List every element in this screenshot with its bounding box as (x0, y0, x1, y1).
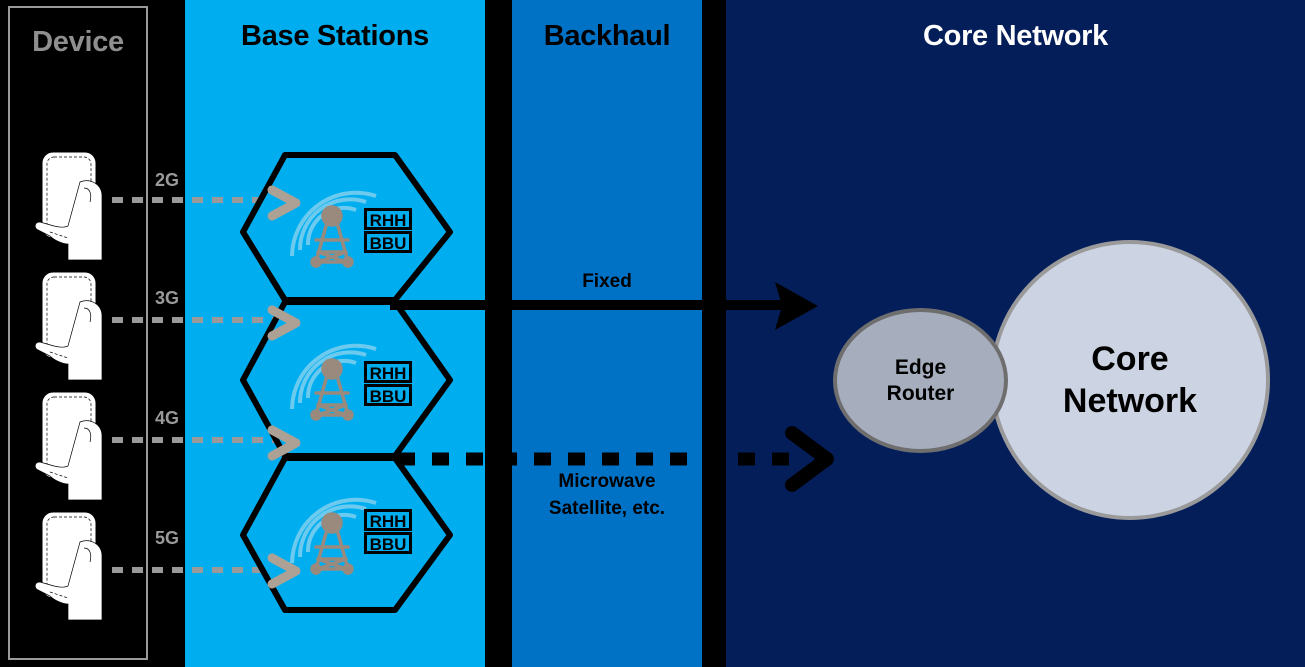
hand-holding-smartphone-icon (28, 152, 124, 270)
backhaul-column-title: Backhaul (512, 20, 702, 53)
unit-box-bbu-2: BBU (364, 384, 412, 406)
hand-holding-smartphone-icon (28, 512, 124, 630)
edge-router-node: Edge Router (833, 308, 1008, 453)
base-stations-column-title: Base Stations (185, 20, 485, 53)
generation-label-2g: 2G (155, 170, 179, 191)
network-architecture-diagram: Device (0, 0, 1305, 667)
core-network-column-title: Core Network (726, 20, 1305, 53)
unit-box-bbu-3: BBU (364, 532, 412, 554)
backhaul-wireless-label-line2: Satellite, etc. (512, 495, 702, 522)
hand-holding-smartphone-icon (28, 272, 124, 390)
unit-box-bbu-1: BBU (364, 231, 412, 253)
unit-box-rhh-3: RHH (364, 509, 412, 531)
unit-box-rhh-1: RHH (364, 208, 412, 230)
backhaul-wireless-label: Microwave Satellite, etc. (512, 468, 702, 522)
backhaul-wireless-label-line1: Microwave (512, 468, 702, 495)
generation-label-4g: 4G (155, 408, 179, 429)
unit-box-rhh-2: RHH (364, 361, 412, 383)
core-network-node-line2: Network (1063, 380, 1197, 422)
generation-label-3g: 3G (155, 288, 179, 309)
edge-router-node-line2: Router (887, 381, 955, 407)
edge-router-node-line1: Edge (887, 355, 955, 381)
core-network-node-line1: Core (1063, 338, 1197, 380)
backhaul-fixed-label: Fixed (512, 268, 702, 295)
generation-label-5g: 5G (155, 528, 179, 549)
backhaul-column-panel: Backhaul (512, 0, 702, 667)
hand-holding-smartphone-icon (28, 392, 124, 510)
core-network-node: Core Network (990, 240, 1270, 520)
base-stations-column-panel: Base Stations (185, 0, 485, 667)
device-column-title: Device (10, 26, 146, 59)
